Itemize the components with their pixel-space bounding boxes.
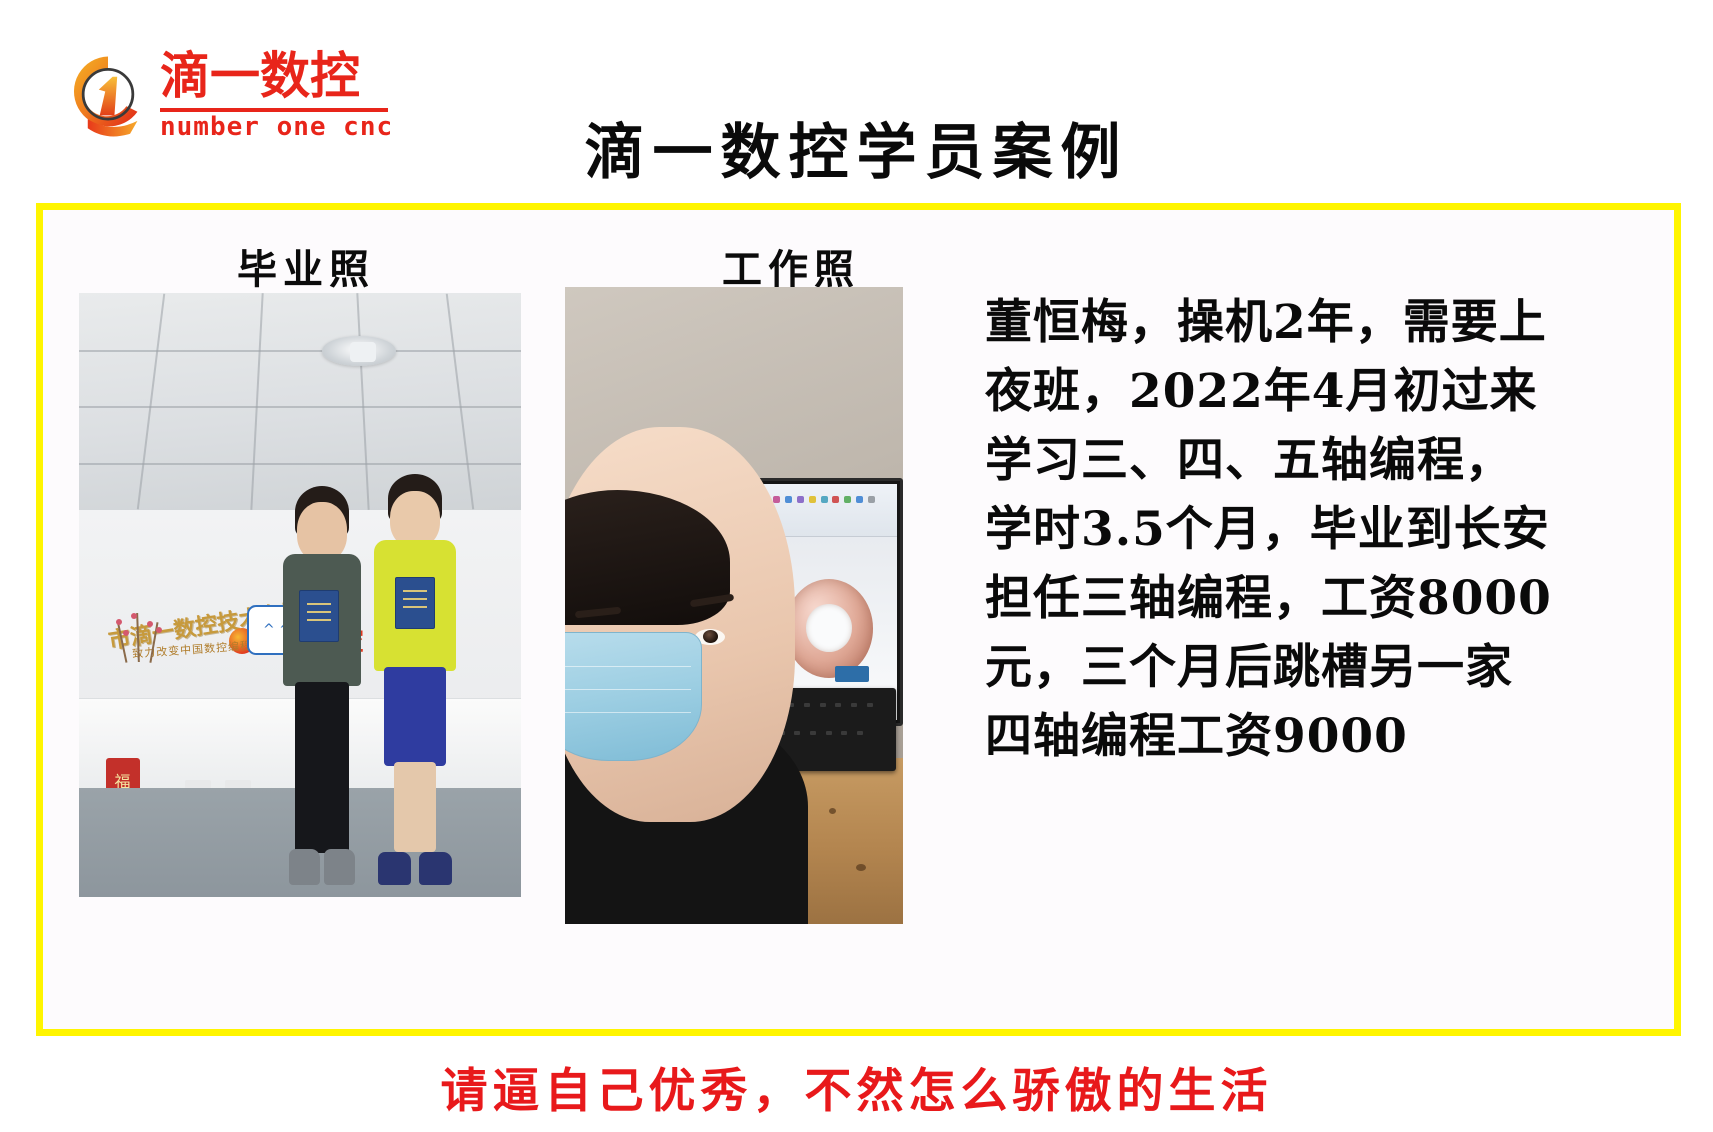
story-line: 学时3.5个月，毕业到长安 <box>985 495 1555 564</box>
story-line: 董恒梅，操机2年，需要上 <box>985 288 1555 357</box>
story-line: 学习三、四、五轴编程， <box>985 426 1555 495</box>
work-photo <box>565 287 903 924</box>
surgical-face-mask <box>565 632 702 760</box>
decorative-branches <box>92 609 189 662</box>
story-line: 夜班，2022年4月初过来 <box>985 357 1555 426</box>
footer-slogan: 请逼自己优秀，不然怎么骄傲的生活 <box>0 1052 1713 1121</box>
page-title: 滴一数控学员案例 <box>0 104 1713 191</box>
student-story-text: 董恒梅，操机2年，需要上 夜班，2022年4月初过来 学习三、四、五轴编程， 学… <box>985 288 1555 771</box>
brand-logo-cn: 滴一数控 <box>160 45 392 107</box>
cad-3d-part-model <box>785 579 873 678</box>
graduate-person-right <box>366 474 463 885</box>
graduation-photo: 市滴一数控技术有限公司 滴一数控 致力改变中国数控编程行业技术落后现状 ^ ^ <box>79 293 521 897</box>
graduate-person-left <box>273 486 370 885</box>
ceiling-light-icon <box>322 336 396 366</box>
graduation-photo-caption: 毕业照 <box>237 237 375 295</box>
person-face <box>565 427 795 822</box>
story-line: 元，三个月后跳槽另一家 <box>985 633 1555 702</box>
blue-desk-object <box>835 666 869 682</box>
story-line: 四轴编程工资9000 <box>985 702 1555 771</box>
story-line: 担任三轴编程，工资8000 <box>985 564 1555 633</box>
